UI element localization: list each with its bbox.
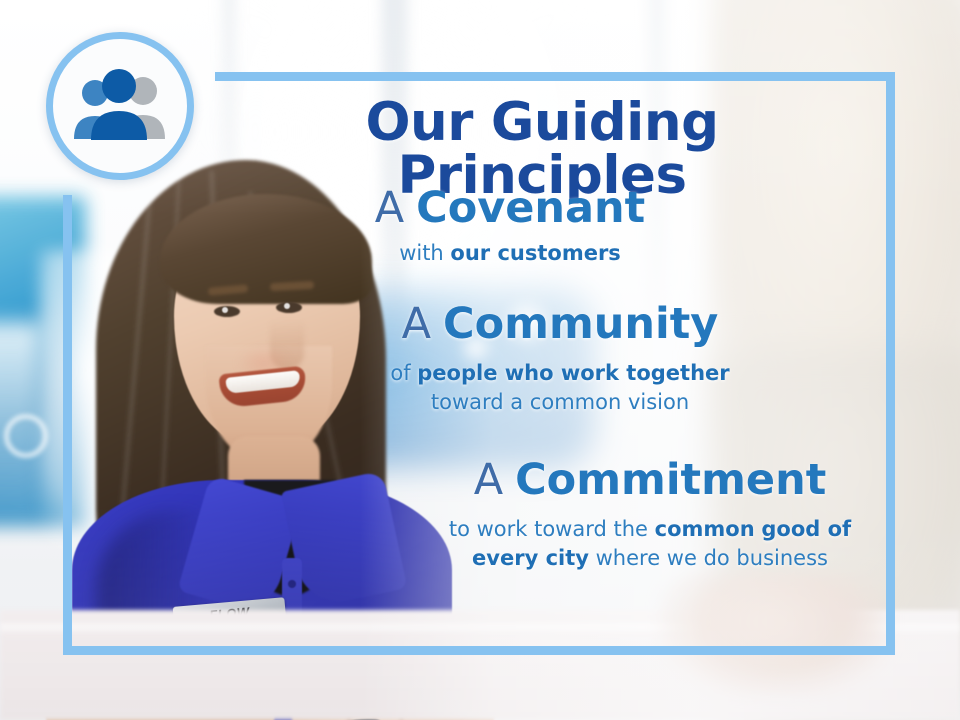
principle-article: A: [474, 455, 503, 505]
detail-plain: toward a common vision: [431, 390, 689, 414]
frame-border-bottom: [63, 646, 895, 655]
people-icon-badge: [46, 32, 194, 180]
people-group-icon: [67, 69, 173, 143]
principle-detail: of people who work together toward a com…: [380, 359, 740, 417]
frame-border-right: [886, 72, 895, 655]
principle-heading: A Covenant: [330, 186, 690, 231]
principle-detail: to work toward the common good of every …: [440, 515, 860, 573]
principle-community: A Community of people who work together …: [380, 302, 740, 417]
principle-detail: with our customers: [330, 239, 690, 268]
principle-word: Commitment: [515, 455, 826, 505]
frame-border-top: [215, 72, 895, 81]
detail-bold: people who work together: [417, 361, 729, 385]
frame-border-left: [63, 195, 72, 655]
principle-heading: A Commitment: [440, 458, 860, 503]
banner-canvas: FLOW AUTOMOTIVE FLOW: [0, 0, 960, 720]
detail-bold: common: [655, 517, 755, 541]
principle-word: Covenant: [416, 183, 645, 233]
principle-word: Community: [443, 299, 718, 349]
detail-plain: to work toward the: [449, 517, 655, 541]
principle-covenant: A Covenant with our customers: [330, 186, 690, 268]
principle-article: A: [375, 183, 404, 233]
principle-commitment: A Commitment to work toward the common g…: [440, 458, 860, 573]
detail-plain: with: [399, 241, 450, 265]
detail-bold: our customers: [450, 241, 620, 265]
detail-plain: where we do business: [589, 546, 828, 570]
principle-heading: A Community: [380, 302, 740, 347]
detail-plain: of: [390, 361, 417, 385]
principle-article: A: [402, 299, 431, 349]
